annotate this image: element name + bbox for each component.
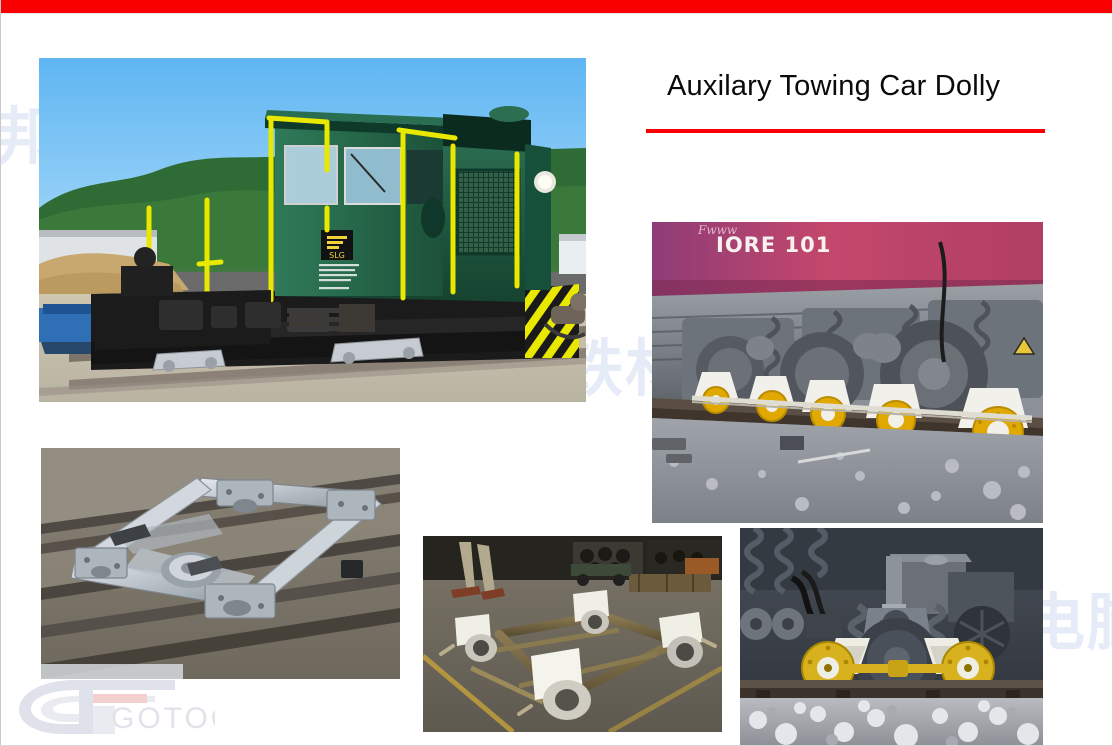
photo-dolly-under-wheel-closeup — [740, 528, 1043, 746]
top-accent-bar — [1, 0, 1112, 13]
photo-green-shunting-locomotive: SLG — [39, 58, 586, 402]
page-title: Auxilary Towing Car Dolly — [667, 68, 1000, 104]
title-underline — [646, 129, 1045, 133]
company-logo: GOTOO — [15, 676, 215, 738]
photo-workshop-dolly-assembly — [423, 536, 722, 732]
logo-wordmark: GOTOO — [111, 702, 215, 735]
svg-text:Fwww: Fwww — [697, 223, 738, 237]
svg-text:SLG: SLG — [329, 251, 345, 260]
photo-galvanized-dolly-frame — [41, 448, 400, 679]
slide: 邦亚腾电器公 铁材 电脑 Auxilary Towing Car Dolly — [0, 0, 1113, 746]
photo-iore-101-locomotive-bogies: IORE 101 Fwww — [652, 222, 1043, 523]
